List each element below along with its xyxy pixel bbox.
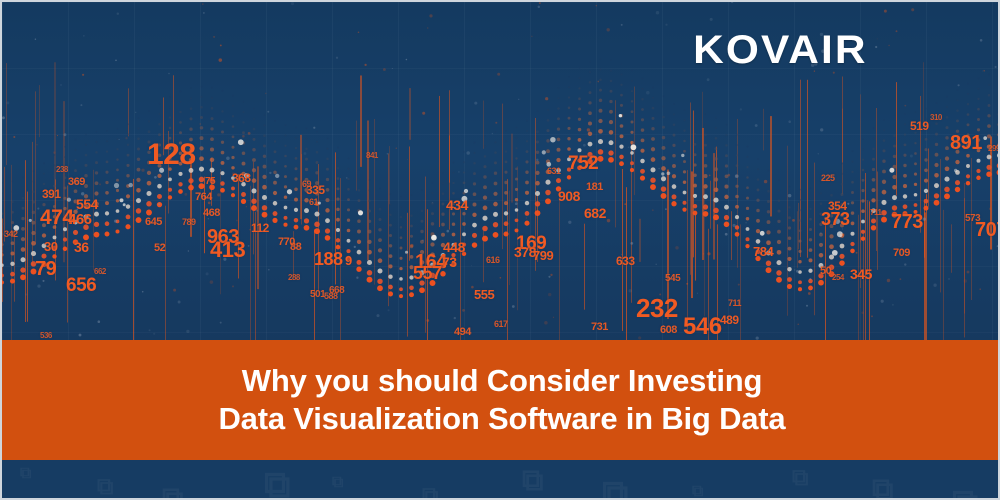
data-label: 770 [278, 237, 295, 248]
data-label: 225 [821, 174, 835, 183]
data-label: 112 [251, 222, 269, 234]
footer-watermark-glyph: ⧉ [20, 466, 31, 482]
data-label: 52 [154, 243, 165, 254]
footer-watermark-glyph: ⧉ [952, 484, 978, 500]
data-label: 69 [302, 180, 311, 189]
data-label: 617 [494, 320, 508, 329]
data-label: 608 [660, 325, 677, 336]
wave-series-series-11 [2, 58, 1000, 197]
data-label: 73 [442, 255, 457, 269]
data-label: 536 [40, 332, 52, 340]
data-label: 466 [68, 212, 92, 227]
footer-bar: ⧉⧉⧉⧉⧉⧉⧉⧉⧉⧉⧉⧉ [2, 460, 1000, 500]
data-label: 752 [568, 154, 598, 173]
title-band: Why you should Consider Investing Data V… [2, 340, 1000, 460]
wave-series-series-6 [2, 109, 1000, 250]
data-label: 764 [195, 192, 212, 203]
data-label: 633 [616, 255, 635, 267]
data-label: 656 [66, 276, 96, 295]
data-label: 30 [44, 240, 57, 253]
data-label: 711 [870, 209, 881, 217]
data-label: 36 [74, 240, 89, 254]
footer-watermark-glyph: ⧉ [602, 475, 628, 500]
data-label: 711 [728, 299, 741, 308]
data-label: 546 [683, 315, 722, 339]
footer-watermark-glyph: ⧉ [422, 484, 438, 500]
data-label: 434 [446, 198, 468, 212]
footer-watermark-glyph: ⧉ [162, 484, 183, 500]
data-label: 79 [35, 259, 56, 279]
footer-watermark-glyph: ⧉ [792, 466, 808, 489]
data-label: 573 [965, 214, 980, 224]
data-label: 891 [950, 133, 982, 153]
data-label: 342 [4, 230, 18, 239]
data-label: 784 [753, 245, 773, 258]
data-label: 468 [203, 208, 220, 219]
data-label: 908 [558, 189, 580, 203]
data-label: 50 [820, 266, 831, 277]
data-label: 345 [850, 267, 872, 281]
data-label: 232 [636, 295, 678, 321]
data-label: 545 [665, 274, 680, 284]
data-label: 310 [930, 114, 942, 122]
data-label: 557 [413, 264, 442, 282]
data-label: 413 [210, 239, 245, 261]
footer-watermark-glyph: ⧉ [692, 484, 703, 500]
data-label: 9 [345, 254, 352, 267]
data-label: 773 [891, 212, 923, 232]
data-label: 662 [94, 268, 106, 276]
data-label: 288 [288, 274, 300, 282]
data-label: 61 [309, 198, 318, 207]
footer-watermark-glyph: ⧉ [97, 475, 113, 498]
data-label: 731 [591, 322, 608, 333]
data-label: 616 [486, 256, 500, 265]
footer-watermark-glyph: ⧉ [522, 466, 543, 496]
data-label: 299 [988, 145, 1000, 153]
data-label: 588 [324, 292, 338, 301]
footer-watermark-glyph: ⧉ [264, 466, 290, 500]
data-label: 75 [205, 177, 215, 187]
data-label: 789 [182, 218, 196, 227]
data-label: 181 [586, 182, 603, 193]
kovair-logo[interactable]: KOVAIR [694, 30, 868, 70]
footer-watermark-glyph: ⧉ [332, 475, 343, 491]
data-label: 354 [828, 200, 847, 212]
data-label: 489 [720, 314, 739, 326]
data-label: 368 [232, 172, 251, 184]
data-label: 841 [366, 152, 378, 160]
data-label: 254 [832, 274, 844, 282]
data-label: 645 [145, 217, 162, 228]
data-label: 188 [314, 250, 343, 268]
footer-watermark-glyph: ⧉ [872, 475, 893, 500]
data-label: 709 [893, 248, 910, 259]
data-label: 554 [76, 197, 98, 211]
data-label: 799 [533, 249, 553, 262]
data-label: 238 [56, 166, 68, 174]
data-label: 494 [454, 327, 471, 338]
data-label: 682 [584, 206, 606, 220]
data-label: 369 [68, 177, 85, 188]
page-title-line-1: Why you should Consider Investing [242, 362, 762, 400]
data-label: 519 [910, 120, 929, 132]
data-label: 501 [310, 290, 325, 300]
kovair-blog-banner: 1284743915543692384667965636303425366623… [0, 0, 1000, 500]
data-label: 128 [147, 140, 196, 170]
data-label: 555 [474, 288, 494, 301]
data-label: 391 [42, 188, 61, 200]
page-title-line-2: Data Visualization Software in Big Data [219, 400, 786, 438]
data-label: 631 [547, 167, 561, 176]
